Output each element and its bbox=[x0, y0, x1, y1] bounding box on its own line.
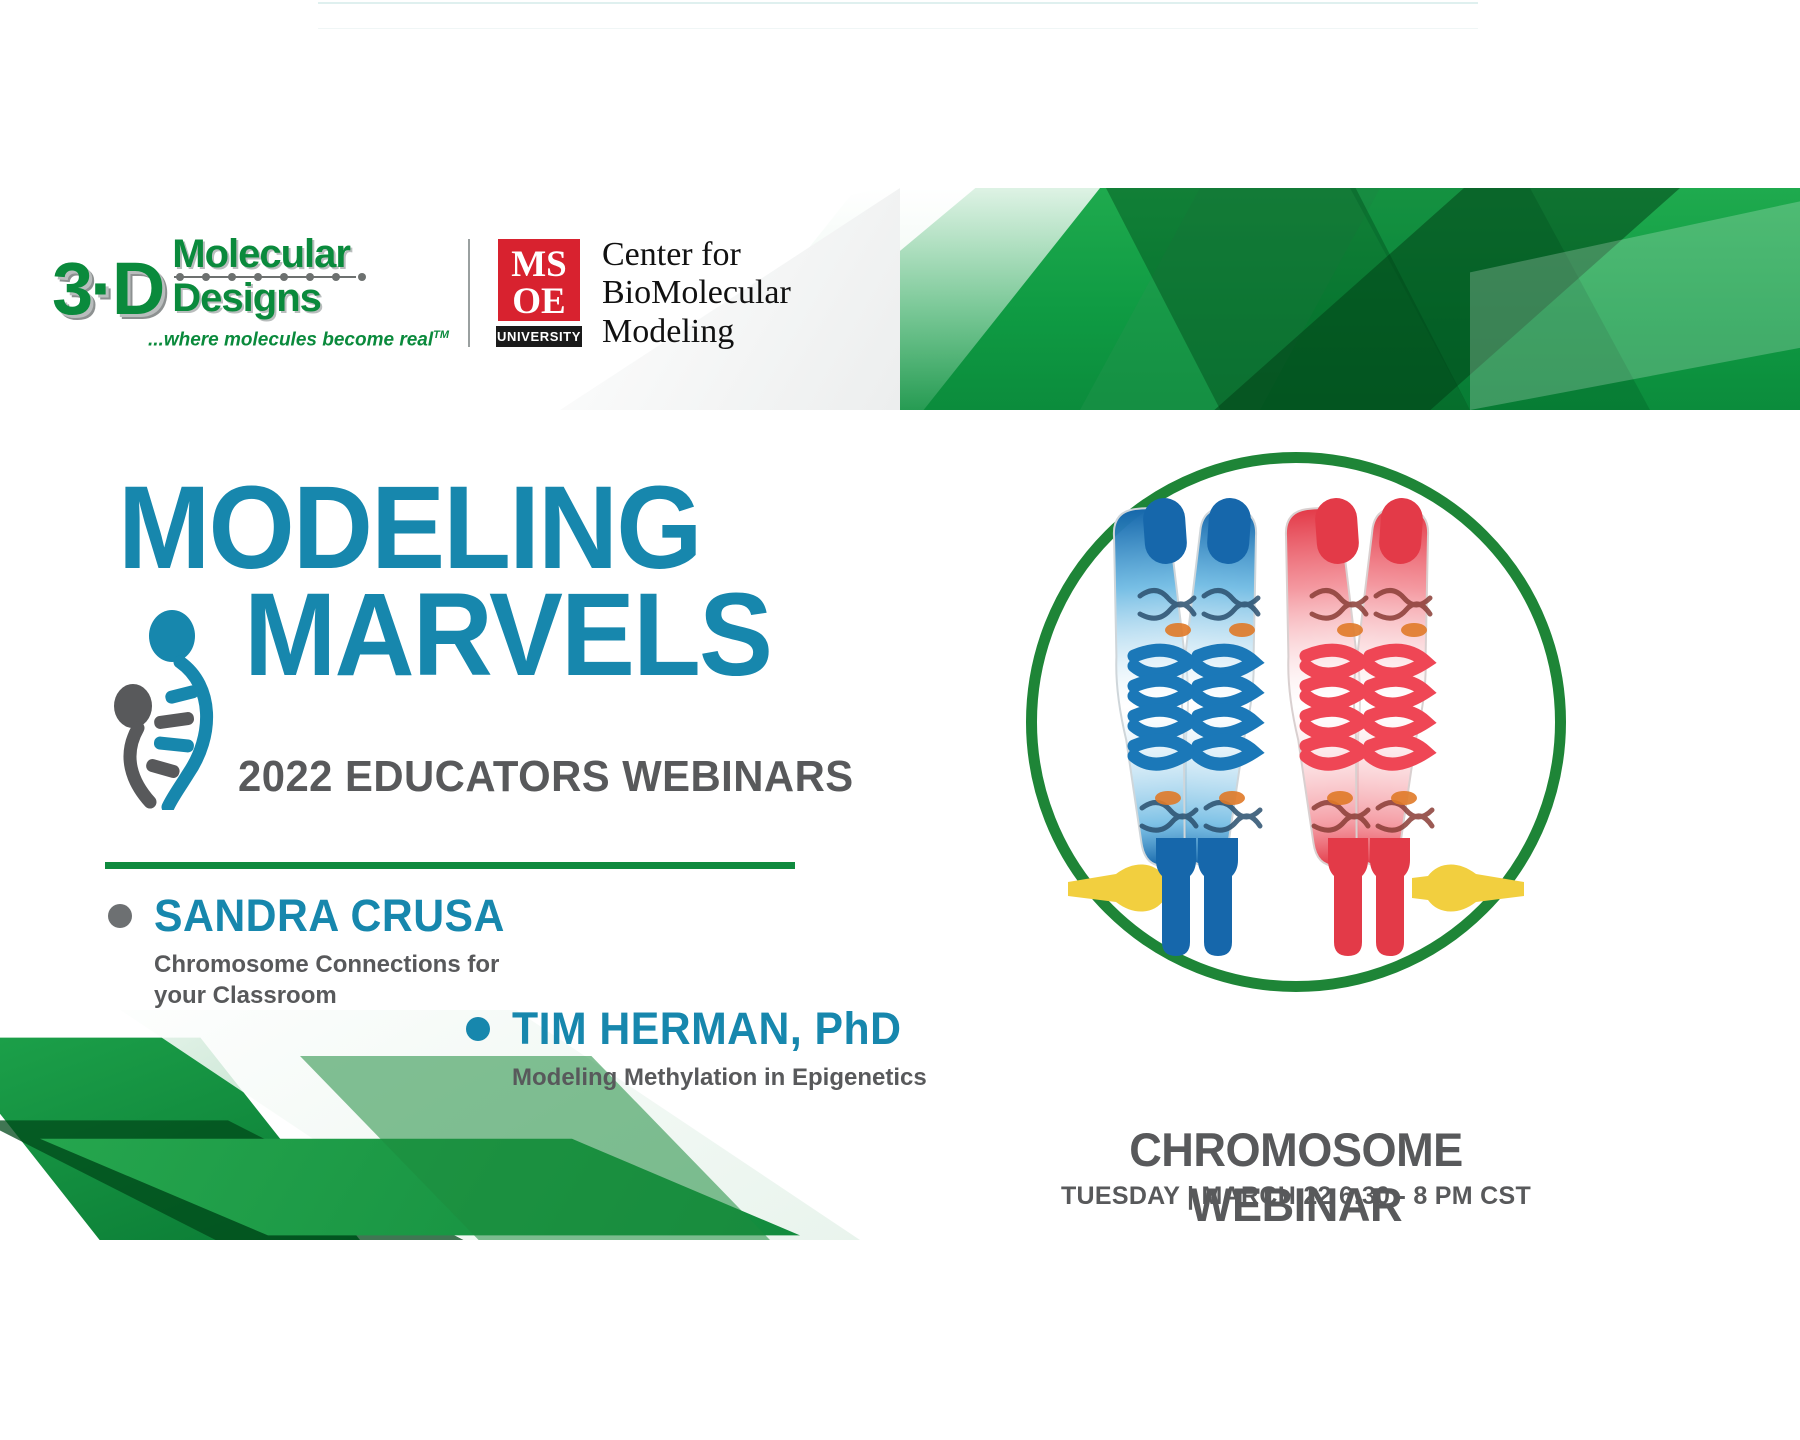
scan-rule-second bbox=[318, 28, 1478, 29]
logo-tagline: ...where molecules become realTM bbox=[148, 329, 442, 351]
logo-wordmark: Molecular Designs bbox=[172, 236, 350, 321]
scan-rule-top bbox=[318, 2, 1478, 4]
speaker-talk-title: Modeling Methylation in Epigenetics bbox=[512, 1063, 927, 1094]
logo-word-designs: Designs bbox=[172, 280, 350, 317]
speaker-bullet-icon bbox=[466, 1017, 490, 1041]
title-line-modeling: MODELING bbox=[118, 478, 764, 579]
logo-dot: · bbox=[90, 247, 112, 330]
logo-3: 3 bbox=[52, 247, 90, 330]
brand-divider bbox=[468, 239, 470, 347]
trademark-mark: TM bbox=[433, 329, 449, 341]
center-for-biomolecular-modeling-text: Center for BioMolecular Modeling bbox=[602, 236, 791, 350]
dna-person-icon bbox=[110, 610, 240, 810]
speaker-entry-sandra-crusa: SANDRA CRUSA Chromosome Connections for … bbox=[108, 890, 523, 1011]
logo-word-molecular: Molecular bbox=[172, 236, 350, 273]
speaker-bullet-icon bbox=[108, 904, 132, 928]
chromosome-photo-circle bbox=[1026, 452, 1566, 992]
msoe-cbm-logo: MS OE UNIVERSITY Center for BioMolecular… bbox=[496, 236, 791, 350]
speaker-name-row: TIM HERMAN, PhD bbox=[466, 1003, 927, 1055]
chromosome-model-photo bbox=[1068, 478, 1524, 978]
speaker-name-row: SANDRA CRUSA bbox=[108, 890, 523, 942]
logo-row: 3·D Molecular Designs bbox=[52, 236, 442, 321]
speaker-name: TIM HERMAN, PhD bbox=[512, 1003, 901, 1055]
title-line-marvels: MARVELS bbox=[244, 585, 771, 686]
msoe-letters-ms: MS bbox=[501, 246, 577, 283]
logo-d: D bbox=[112, 247, 162, 330]
section-divider bbox=[105, 862, 795, 869]
logo-molecule-chain-icon bbox=[172, 273, 350, 280]
speaker-name: SANDRA CRUSA bbox=[154, 890, 505, 942]
page-subtitle: 2022 EDUCATORS WEBINARS bbox=[238, 752, 854, 802]
brand-bar: 3·D Molecular Designs ...where molecules… bbox=[52, 236, 791, 351]
msoe-letters-oe: OE bbox=[501, 283, 577, 320]
speaker-entry-tim-herman: TIM HERMAN, PhD Modeling Methylation in … bbox=[466, 1003, 927, 1094]
three-d-molecular-designs-logo: 3·D Molecular Designs ...where molecules… bbox=[52, 236, 442, 351]
msoe-mark: MS OE UNIVERSITY bbox=[496, 239, 582, 347]
msoe-university-bar: UNIVERSITY bbox=[496, 326, 582, 347]
centromere-connector-right bbox=[1412, 864, 1524, 911]
msoe-red-box-icon: MS OE bbox=[498, 239, 580, 321]
webinar-title: CHROMOSOME WEBINAR bbox=[1037, 1122, 1555, 1232]
webinar-date: TUESDAY | MARCH 22 6:30 - 8 PM CST bbox=[1026, 1182, 1566, 1211]
webinar-poster: 3·D Molecular Designs ...where molecules… bbox=[0, 0, 1800, 1440]
logo-3d-mark: 3·D bbox=[52, 258, 162, 320]
